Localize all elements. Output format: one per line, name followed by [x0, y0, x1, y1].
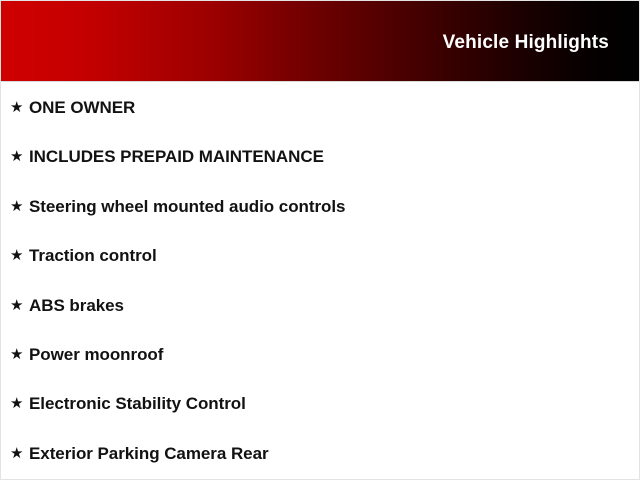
star-bullet-icon: ★: [10, 195, 29, 219]
vehicle-highlights-panel: Vehicle Highlights ★ONE OWNER★INCLUDES P…: [0, 0, 640, 480]
highlight-item-label: Electronic Stability Control: [29, 392, 246, 416]
highlight-list-item: ★Power moonroof: [10, 343, 163, 367]
star-bullet-icon: ★: [10, 145, 29, 169]
star-bullet-icon: ★: [10, 96, 29, 120]
page-title: Vehicle Highlights: [443, 31, 609, 55]
star-bullet-icon: ★: [10, 442, 29, 466]
highlight-item-label: Traction control: [29, 244, 157, 268]
highlight-list-item: ★ABS brakes: [10, 294, 124, 318]
highlight-list-item: ★INCLUDES PREPAID MAINTENANCE: [10, 145, 324, 169]
highlight-list-item: ★Traction control: [10, 244, 157, 268]
highlight-item-label: Power moonroof: [29, 343, 163, 367]
star-bullet-icon: ★: [10, 244, 29, 268]
star-bullet-icon: ★: [10, 294, 29, 318]
highlight-list-item: ★ONE OWNER: [10, 96, 135, 120]
header-banner: Vehicle Highlights: [1, 1, 640, 81]
highlight-item-label: Steering wheel mounted audio controls: [29, 195, 345, 219]
highlight-list-item: ★Electronic Stability Control: [10, 392, 246, 416]
highlight-list-item: ★Steering wheel mounted audio controls: [10, 195, 345, 219]
star-bullet-icon: ★: [10, 343, 29, 367]
vehicle-highlights-list: ★ONE OWNER★INCLUDES PREPAID MAINTENANCE★…: [1, 81, 640, 479]
highlight-item-label: ONE OWNER: [29, 96, 135, 120]
star-bullet-icon: ★: [10, 392, 29, 416]
highlight-item-label: Exterior Parking Camera Rear: [29, 442, 269, 466]
highlight-item-label: ABS brakes: [29, 294, 124, 318]
highlight-list-item: ★Exterior Parking Camera Rear: [10, 442, 269, 466]
highlight-item-label: INCLUDES PREPAID MAINTENANCE: [29, 145, 324, 169]
